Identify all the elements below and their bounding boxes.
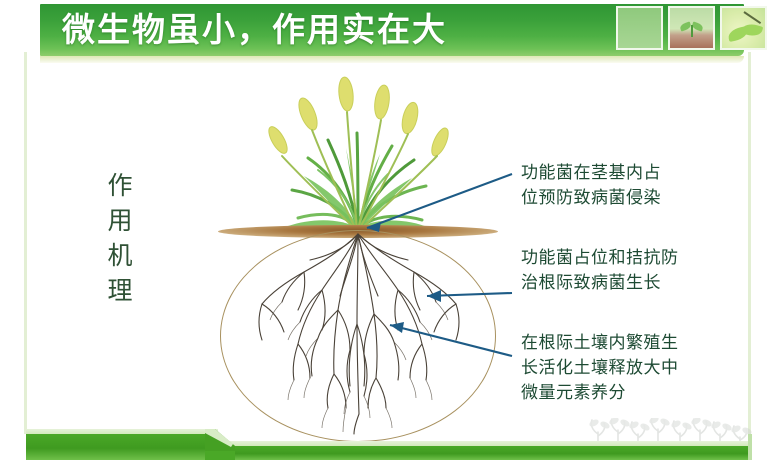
section-label-char-4: 理 xyxy=(100,273,140,308)
seedling-stem-icon xyxy=(691,25,693,37)
frame-left-border xyxy=(24,52,27,434)
annotation-text-3: 在根际土壤内繁殖生 长活化土壤释放大中 微量元素养分 xyxy=(521,331,751,406)
slide-canvas: 微生物虽小，作用实在大 作 用 机 理 xyxy=(0,0,775,472)
plant-diagram xyxy=(200,78,520,438)
seedling-leaf-right-icon xyxy=(691,22,704,32)
annotation-1-line-1: 功能菌在茎基内占 xyxy=(521,161,751,186)
page-title: 微生物虽小，作用实在大 xyxy=(62,5,447,55)
header-underline xyxy=(40,56,744,63)
annotation-3-line-3: 微量元素养分 xyxy=(521,381,751,406)
annotation-1-line-2: 位预防致病菌侵染 xyxy=(521,186,751,211)
annotation-2-line-2: 治根际致病菌生长 xyxy=(521,271,751,296)
annotation-text-2: 功能菌占位和拮抗防 治根际致病菌生长 xyxy=(521,246,751,296)
footer-right-cap xyxy=(748,434,752,460)
annotation-text-1: 功能菌在茎基内占 位预防致病菌侵染 xyxy=(521,161,751,211)
annotation-3-line-2: 长活化土壤释放大中 xyxy=(521,356,751,381)
section-label-vertical: 作 用 机 理 xyxy=(100,168,140,308)
section-label-char-2: 用 xyxy=(100,203,140,238)
leaf-stem-icon xyxy=(743,11,761,24)
section-label-char-3: 机 xyxy=(100,238,140,273)
section-label-char-1: 作 xyxy=(100,168,140,203)
annotation-2-line-1: 功能菌占位和拮抗防 xyxy=(521,246,751,271)
footer-step-shape xyxy=(205,429,239,460)
root-system-illustration xyxy=(200,78,520,438)
thumbnail-seedling xyxy=(668,6,715,50)
header-thumbnail-group xyxy=(616,6,767,50)
annotation-3-line-1: 在根际土壤内繁殖生 xyxy=(521,331,751,356)
thumbnail-plain xyxy=(616,6,663,50)
thumbnail-leaves xyxy=(720,6,767,50)
footer-block xyxy=(26,434,211,460)
